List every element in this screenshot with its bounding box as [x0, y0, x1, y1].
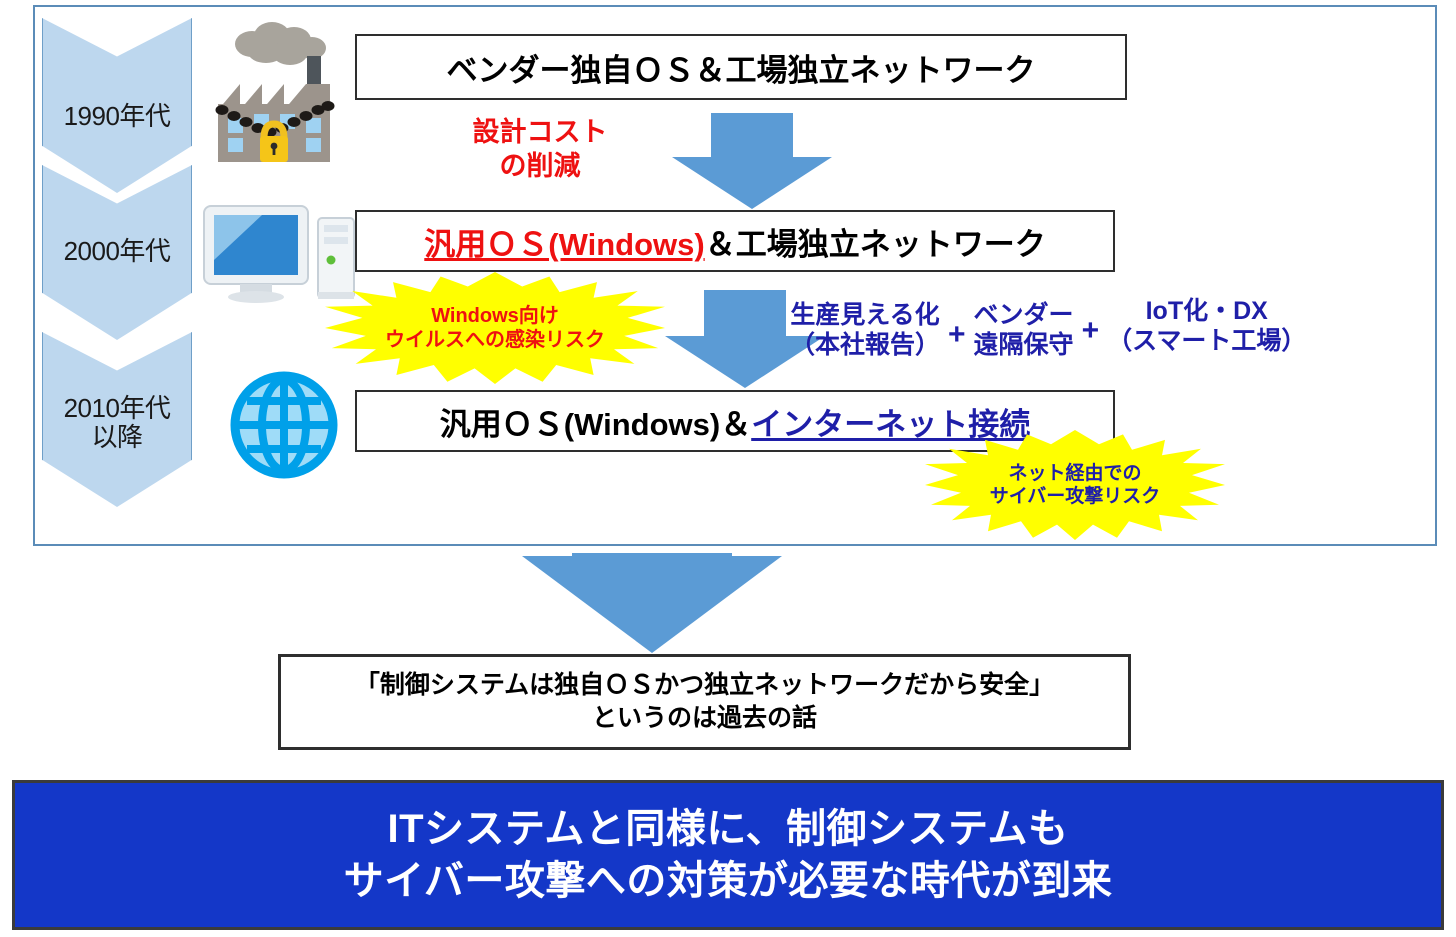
- banner-line1: ITシステムと同様に、制御システムも: [388, 803, 1069, 855]
- cyber-attack-risk-text: ネット経由での サイバー攻撃リスク: [990, 462, 1161, 508]
- driver-iot-dx: IoT化・DX （スマート工場）: [1107, 296, 1306, 356]
- statement-1990-part-0: ベンダー独自ＯＳ＆工場独立ネットワーク: [447, 53, 1036, 88]
- statement-box-1990: ベンダー独自ＯＳ＆工場独立ネットワーク: [355, 34, 1127, 100]
- arrow-head: [522, 556, 782, 653]
- key-message-banner: ITシステムと同様に、制御システムも サイバー攻撃への対策が必要な時代が到来: [12, 780, 1444, 930]
- era-label-2010-line1: 2010年代: [64, 393, 171, 423]
- conclusion-line2: というのは過去の話: [592, 702, 817, 735]
- virus-risk-text: Windows向け ウイルスへの感染リスク: [385, 304, 605, 353]
- driver-3-line1: IoT化・DX: [1146, 297, 1268, 325]
- era-label-2000: 2000年代: [43, 237, 191, 266]
- statement-2000-part-1: ＆工場独立ネットワーク: [705, 227, 1046, 262]
- arrow-shaft: [711, 113, 793, 159]
- statement-text-2000: 汎用ＯＳ(Windows)＆工場独立ネットワーク: [424, 219, 1045, 264]
- driver-production-visibility: 生産見える化 （本社報告）: [790, 300, 940, 360]
- statement-text-1990: ベンダー独自ＯＳ＆工場独立ネットワーク: [447, 45, 1036, 90]
- plus-sign-1: +: [944, 320, 970, 350]
- driver-2-line2: 遠隔保守: [974, 330, 1074, 360]
- statement-2000-part-0: 汎用ＯＳ(Windows): [424, 227, 704, 262]
- globe-icon: [222, 368, 347, 483]
- virus-risk-line2: ウイルスへの感染リスク: [385, 329, 605, 351]
- factory-lock-icon: [206, 18, 346, 178]
- cost-reduction-line2: の削減: [500, 151, 581, 181]
- connectivity-drivers-group: 生産見える化 （本社報告） + ベンダー 遠隔保守 + IoT化・DX （スマー…: [790, 300, 1430, 360]
- statement-box-2010: 汎用ＯＳ(Windows)＆インターネット接続: [355, 390, 1115, 452]
- statement-box-2000: 汎用ＯＳ(Windows)＆工場独立ネットワーク: [355, 210, 1115, 272]
- cost-reduction-note: 設計コスト の削減: [430, 116, 650, 184]
- cost-reduction-line1: 設計コスト: [473, 117, 608, 147]
- era-label-2010: 2010年代 以降: [43, 394, 191, 452]
- conclusion-box: 「制御システムは独自ＯＳかつ独立ネットワークだから安全」 というのは過去の話: [278, 654, 1131, 750]
- driver-3-line2: （スマート工場）: [1107, 326, 1306, 356]
- statement-2010-part-0: 汎用ＯＳ(Windows)＆: [440, 407, 751, 442]
- arrow-head: [672, 157, 832, 209]
- conclusion-line1: 「制御システムは独自ＯＳかつ独立ネットワークだから安全」: [355, 669, 1054, 702]
- cyber-risk-line2: サイバー攻撃リスク: [990, 486, 1161, 507]
- banner-line2: サイバー攻撃への対策が必要な時代が到来: [344, 855, 1113, 907]
- arrow-shaft: [704, 290, 786, 338]
- virus-risk-line1: Windows向け: [431, 305, 559, 327]
- cyber-risk-line1: ネット経由での: [1008, 463, 1141, 484]
- statement-2010-part-1: インターネット接続: [751, 407, 1030, 442]
- driver-1-line1: 生産見える化: [790, 301, 939, 329]
- driver-vendor-remote-maintenance: ベンダー 遠隔保守: [974, 300, 1074, 360]
- desktop-pc-icon: [200, 200, 360, 310]
- era-label-2010-line2: 以降: [91, 422, 142, 452]
- statement-text-2010: 汎用ＯＳ(Windows)＆インターネット接続: [440, 399, 1030, 444]
- plus-sign-2: +: [1078, 316, 1104, 346]
- era-label-1990: 1990年代: [43, 102, 191, 131]
- driver-1-line2: （本社報告）: [790, 330, 940, 360]
- down-arrow-to-conclusion: [522, 553, 782, 653]
- driver-2-line1: ベンダー: [974, 301, 1074, 329]
- diagram-canvas: 1990年代 2000年代 2010年代 以降: [0, 0, 1456, 937]
- down-arrow-1990-to-2000: [672, 113, 832, 209]
